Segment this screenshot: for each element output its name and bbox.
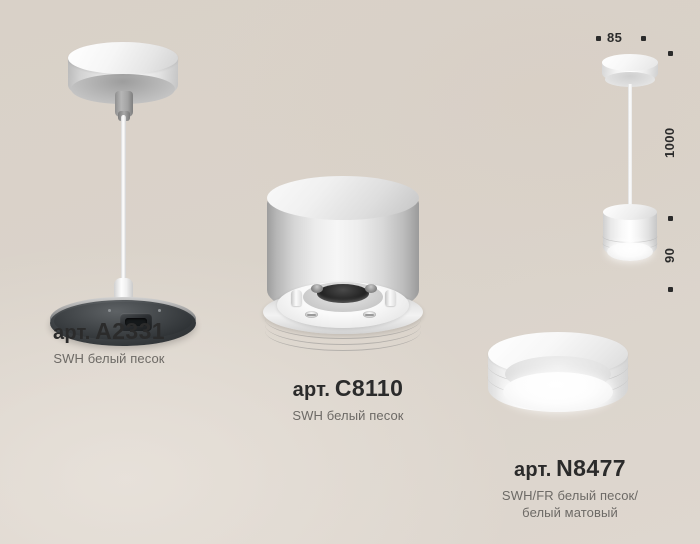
suspension-cord — [121, 115, 126, 287]
article-code-a2331: A2331 — [95, 318, 165, 344]
catalog-canvas: арт. A2331 SWH белый песок арт. C8110 SW… — [0, 0, 700, 544]
screw-right — [363, 311, 376, 318]
dim-dot-drop-top — [668, 51, 673, 56]
mounting-lug-right — [385, 290, 396, 306]
disc-pin-right — [158, 309, 161, 312]
disc-pin-left — [108, 309, 111, 312]
bolt-upper-left — [311, 284, 323, 293]
dim-dot-height-top — [668, 216, 673, 221]
dim-label-height: 90 — [662, 248, 677, 263]
susp-ceiling-cup-top — [602, 54, 658, 71]
susp-rod — [628, 84, 632, 212]
finish-n8477: SWH/FR белый песок/ белый матовый — [455, 487, 685, 521]
article-code-n8477: N8477 — [556, 455, 626, 481]
dim-dot-width-right — [641, 36, 646, 41]
product-image-n8477 — [478, 330, 638, 445]
bolt-upper-right — [365, 284, 377, 293]
dim-dot-width-left — [596, 36, 601, 41]
finish-a2331: SWH белый песок — [0, 350, 218, 367]
caption-a2331: арт. A2331 SWH белый песок — [0, 318, 218, 367]
dim-label-width: 85 — [607, 30, 622, 45]
product-image-c8110 — [255, 178, 435, 353]
susp-cylinder-top — [603, 204, 657, 220]
article-prefix-c8110: арт. — [293, 379, 330, 401]
center-aperture — [317, 284, 369, 303]
dim-dot-height-bottom — [668, 287, 673, 292]
article-line-n8477: арт. N8477 — [455, 455, 685, 482]
susp-diffuser — [607, 242, 653, 261]
article-prefix-a2331: арт. — [53, 322, 90, 344]
caption-c8110: арт. C8110 SWH белый песок — [248, 375, 448, 424]
product-image-a2331 — [38, 38, 218, 318]
caption-n8477: арт. N8477 SWH/FR белый песок/ белый мат… — [455, 455, 685, 521]
mounting-lug-left — [291, 290, 302, 306]
ring-diffuser — [503, 372, 613, 412]
article-line-c8110: арт. C8110 — [248, 375, 448, 402]
article-prefix-n8477: арт. — [514, 459, 551, 481]
finish-c8110: SWH белый песок — [248, 407, 448, 424]
dim-label-drop: 1000 — [662, 127, 677, 158]
article-line-a2331: арт. A2331 — [0, 318, 218, 345]
ceiling-cup-top — [68, 42, 178, 74]
cord-connector — [115, 91, 133, 117]
cylinder-top — [267, 176, 419, 220]
article-code-c8110: C8110 — [335, 375, 404, 401]
screw-left — [305, 311, 318, 318]
